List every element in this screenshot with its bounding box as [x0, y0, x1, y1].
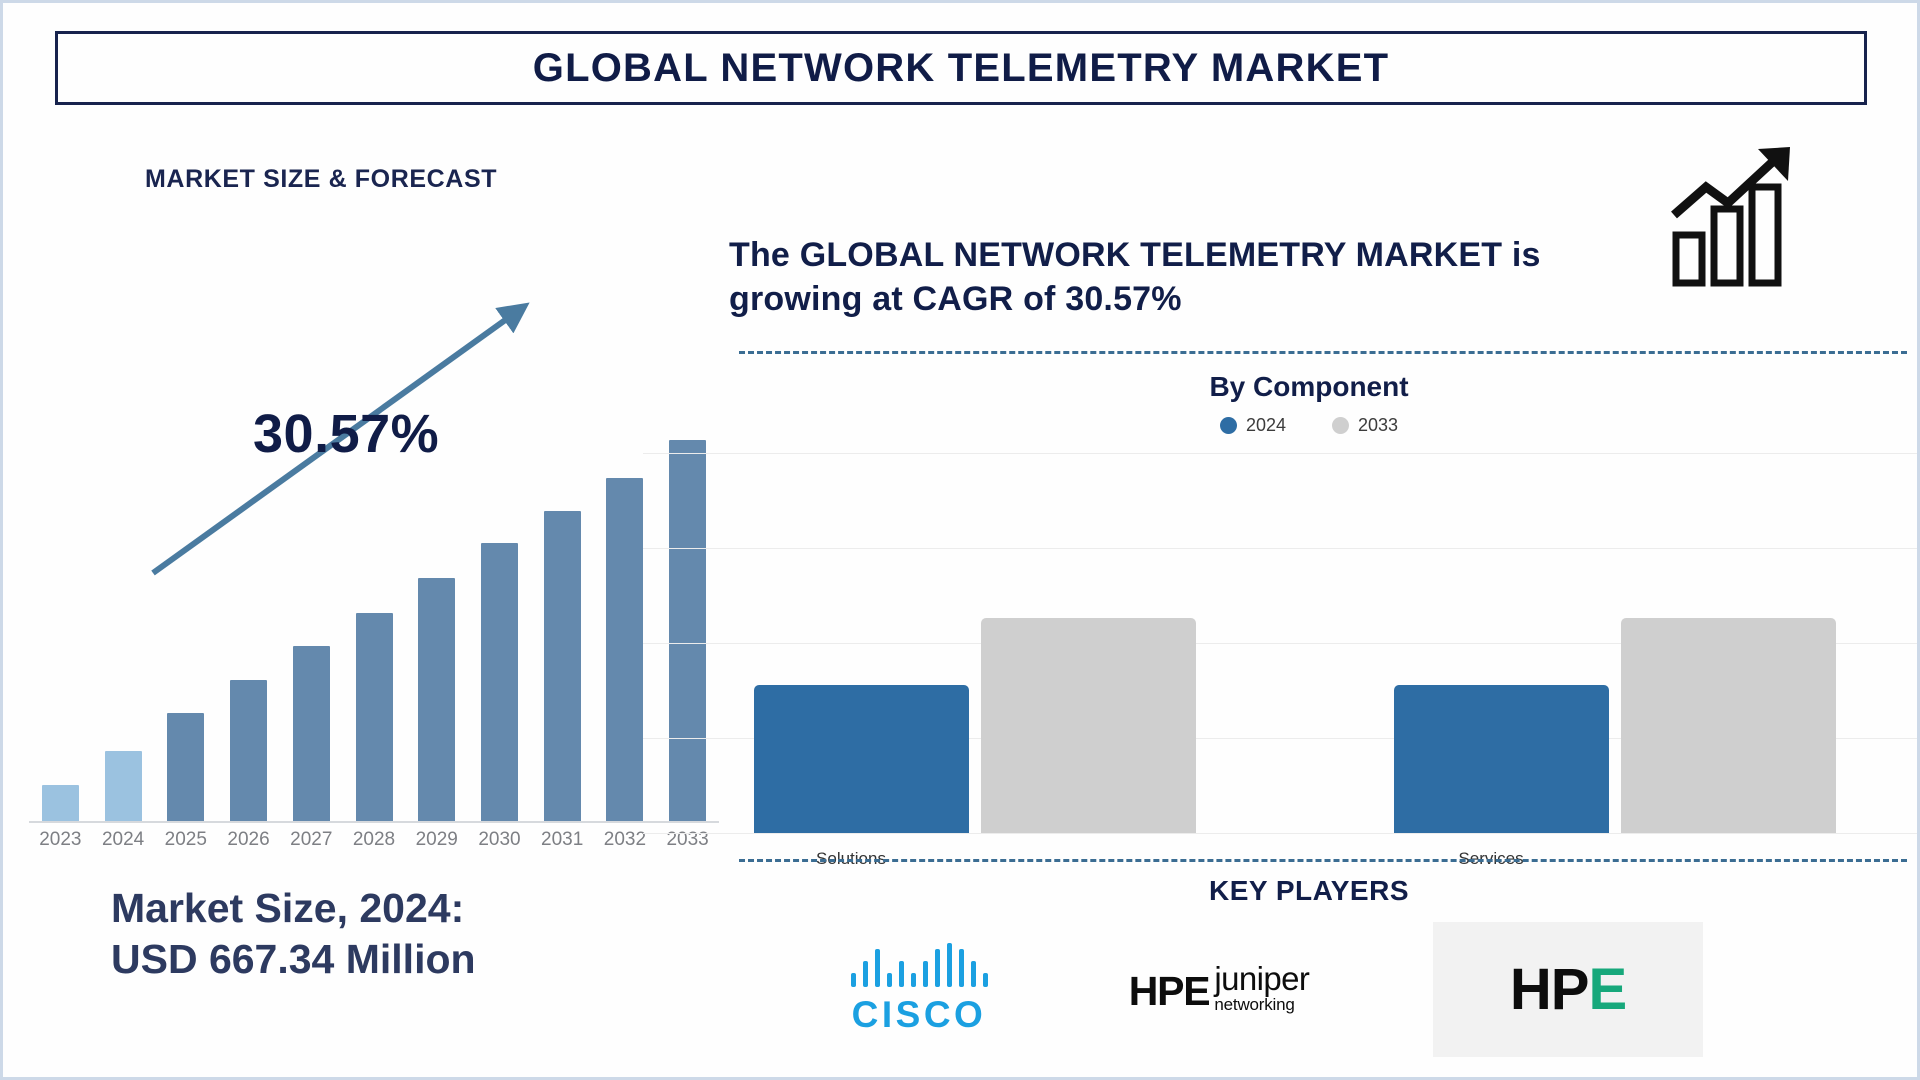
juniper-stack: juniper networking	[1214, 963, 1309, 1014]
right-panel: The GLOBAL NETWORK TELEMETRY MARKET is g…	[729, 123, 1920, 1063]
cagr-statement-line2: growing at CAGR of 30.57%	[729, 280, 1182, 318]
by-component-chart: SolutionsServices	[643, 453, 1920, 843]
component-bar	[1394, 685, 1609, 833]
page-title: GLOBAL NETWORK TELEMETRY MARKET	[533, 46, 1389, 91]
hpe-juniper-brand: HPE	[1129, 968, 1210, 1015]
market-size-forecast-chart	[29, 293, 719, 823]
market-size-forecast-panel: MARKET SIZE & FORECAST 30.57% 2023202420…	[3, 123, 723, 1063]
hpe-e-text: E	[1588, 957, 1626, 1022]
forecast-bar	[606, 478, 643, 823]
legend-color-dot	[1332, 417, 1349, 434]
forecast-bar	[356, 613, 393, 823]
year-axis-label: 2031	[534, 829, 590, 851]
year-axis-label: 2024	[95, 829, 151, 851]
year-axis-label: 2023	[32, 829, 88, 851]
cisco-bars-icon	[769, 943, 1069, 987]
cisco-wordmark: CISCO	[769, 994, 1069, 1036]
forecast-bar	[544, 511, 581, 823]
cisco-bar	[983, 973, 988, 987]
chart-gridline	[643, 833, 1920, 834]
divider-middle	[739, 859, 1907, 862]
legend-label: 2033	[1358, 415, 1398, 436]
chart-baseline	[29, 821, 719, 823]
market-size-label: Market Size, 2024:	[111, 883, 476, 934]
cisco-bar	[911, 973, 916, 987]
year-axis-label: 2028	[346, 829, 402, 851]
by-component-title: By Component	[729, 371, 1889, 403]
key-players-logos: CISCO HPE juniper networking HPE	[729, 919, 1899, 1059]
cisco-bar	[935, 949, 940, 987]
juniper-wordmark: juniper	[1214, 963, 1309, 994]
cisco-bar	[887, 973, 892, 987]
cagr-highlight: 30.57%	[253, 403, 439, 465]
legend-label: 2024	[1246, 415, 1286, 436]
forecast-bar	[105, 751, 142, 823]
cisco-logo: CISCO	[769, 943, 1069, 1036]
infographic-page: GLOBAL NETWORK TELEMETRY MARKET MARKET S…	[0, 0, 1920, 1080]
section-label-market-size-forecast: MARKET SIZE & FORECAST	[145, 165, 497, 194]
cisco-bar	[863, 961, 868, 987]
forecast-bar	[42, 785, 79, 823]
year-axis-labels: 2023202420252026202720282029203020312032…	[29, 829, 719, 861]
forecast-bar	[293, 646, 330, 823]
cagr-statement: The GLOBAL NETWORK TELEMETRY MARKET is g…	[729, 233, 1759, 321]
key-players-title: KEY PLAYERS	[729, 875, 1889, 907]
cisco-bar	[959, 949, 964, 987]
cagr-statement-line1: The GLOBAL NETWORK TELEMETRY MARKET is	[729, 236, 1541, 274]
bar-chart-growth-icon	[1654, 143, 1814, 303]
cisco-bar	[851, 973, 856, 987]
year-axis-label: 2027	[283, 829, 339, 851]
component-bar	[1621, 618, 1836, 833]
legend-color-dot	[1220, 417, 1237, 434]
market-size-summary: Market Size, 2024: USD 667.34 Million	[111, 883, 476, 985]
legend-item: 2024	[1220, 415, 1286, 436]
page-title-box: GLOBAL NETWORK TELEMETRY MARKET	[55, 31, 1867, 105]
hpe-hp-text: HP	[1510, 957, 1589, 1022]
forecast-bar	[481, 543, 518, 823]
cisco-bar	[875, 949, 880, 987]
forecast-bar	[418, 578, 455, 823]
forecast-bar	[167, 713, 204, 823]
forecast-bar	[230, 680, 267, 823]
chart-gridline	[643, 548, 1920, 549]
year-axis-label: 2025	[158, 829, 214, 851]
divider-top	[739, 351, 1907, 354]
hpe-logo: HPE	[1433, 922, 1703, 1057]
juniper-tagline: networking	[1214, 995, 1309, 1015]
hpe-juniper-logo: HPE juniper networking	[1069, 963, 1369, 1014]
market-size-value: USD 667.34 Million	[111, 934, 476, 985]
chart-gridline	[643, 453, 1920, 454]
component-bar	[754, 685, 969, 833]
year-axis-label: 2030	[471, 829, 527, 851]
component-bar	[981, 618, 1196, 833]
cisco-bar	[971, 961, 976, 987]
year-axis-label: 2029	[409, 829, 465, 851]
hpe-wordmark: HPE	[1510, 956, 1626, 1023]
cisco-bar	[899, 961, 904, 987]
by-component-legend: 20242033	[729, 415, 1889, 436]
legend-item: 2033	[1332, 415, 1398, 436]
cisco-bar	[947, 943, 952, 987]
year-axis-label: 2026	[221, 829, 277, 851]
cisco-bar	[923, 961, 928, 987]
